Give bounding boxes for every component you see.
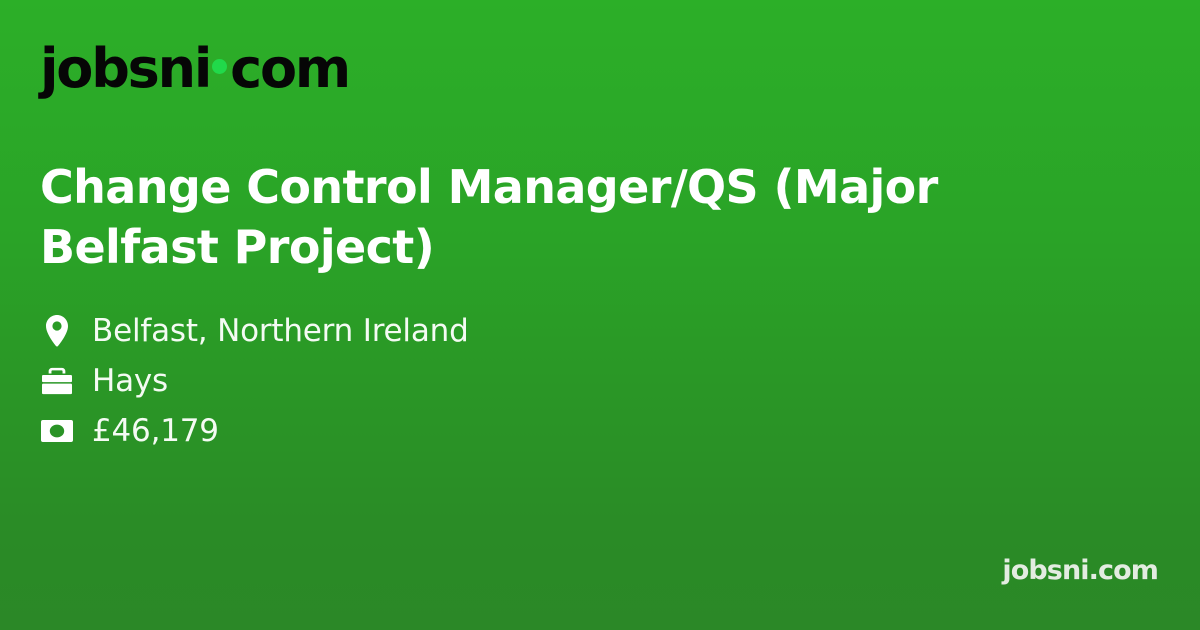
page-title: Change Control Manager/QS (Major Belfast… (40, 157, 1050, 278)
briefcase-icon (40, 364, 74, 398)
map-pin-icon (40, 314, 74, 348)
job-meta-company: Hays (40, 356, 1160, 406)
green-dot-icon (212, 59, 227, 74)
footer-watermark: jobsni.com (1002, 555, 1158, 586)
job-salary-value: £46,179 (92, 413, 219, 449)
job-meta-location: Belfast, Northern Ireland (40, 306, 1160, 356)
job-meta-salary: £46,179 (40, 406, 1160, 456)
job-company-value: Hays (92, 363, 168, 399)
job-location-value: Belfast, Northern Ireland (92, 313, 469, 349)
logo-text-primary: jobsni (40, 37, 210, 100)
logo-text-secondary: com (230, 37, 349, 100)
site-logo[interactable]: jobsnicom (40, 38, 1160, 100)
job-share-card: jobsnicom Change Control Manager/QS (Maj… (0, 0, 1200, 630)
money-note-icon (40, 414, 74, 448)
job-meta-list: Belfast, Northern Ireland Hays £46,179 (40, 306, 1160, 456)
